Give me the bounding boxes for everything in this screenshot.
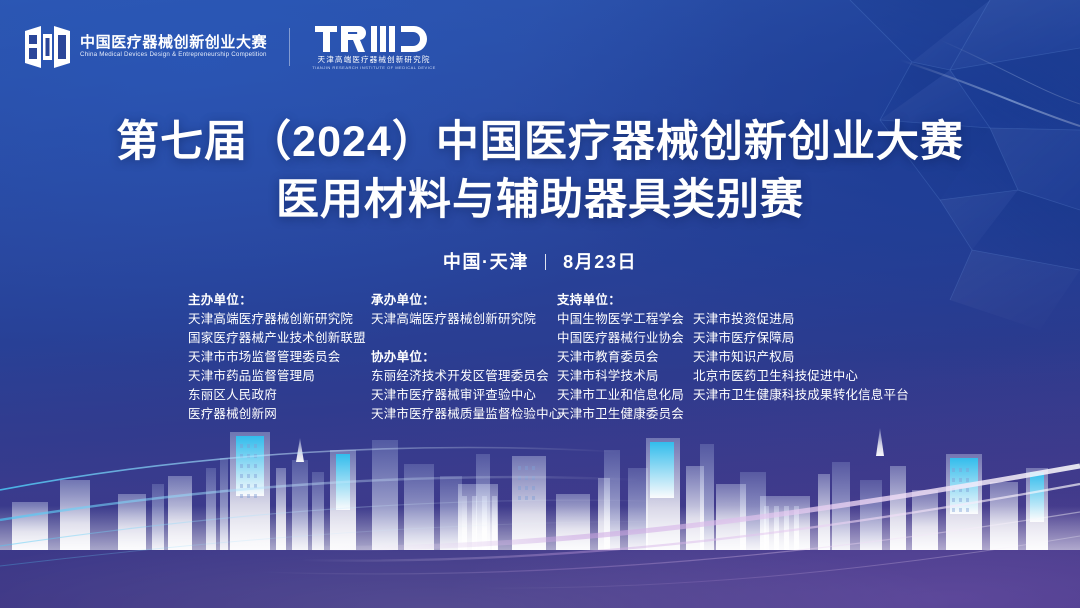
hosts-item: 天津市市场监督管理委员会	[188, 348, 371, 367]
supporter-item: 天津市科学技术局	[557, 367, 693, 386]
supporter-item: 天津市知识产权局	[693, 348, 898, 367]
logo-bar: 中国医疗器械创新创业大赛 China Medical Devices Desig…	[24, 24, 436, 70]
door-gateway-logo-icon	[24, 25, 71, 69]
supporter-item: 北京市医药卫生科技促进中心	[693, 367, 898, 386]
supporters-column-left: 支持单位： 中国生物医学工程学会 中国医疗器械行业协会 天津市教育委员会 天津市…	[557, 291, 693, 424]
event-poster: 中国医疗器械创新创业大赛 China Medical Devices Desig…	[0, 0, 1080, 608]
supporter-item: 中国医疗器械行业协会	[557, 329, 693, 348]
organizer-title: 承办单位：	[371, 291, 557, 310]
supporter-item: 天津市医疗保障局	[693, 329, 898, 348]
event-datebar: 中国·天津 8月23日	[0, 248, 1080, 274]
coorganizer-item: 天津市医疗器械质量监督检验中心	[371, 405, 557, 424]
hosts-column: 主办单位： 天津高端医疗器械创新研究院 国家医疗器械产业技术创新联盟 天津市市场…	[188, 291, 371, 424]
supporter-item: 天津市教育委员会	[557, 348, 693, 367]
institute-logo-cn: 天津高端医疗器械创新研究院	[318, 56, 431, 64]
organizer-item: 天津高端医疗器械创新研究院	[371, 310, 557, 329]
trmid-wordmark-icon	[315, 24, 433, 54]
supporter-item: 天津市卫生健康委员会	[557, 405, 693, 424]
logo-divider	[289, 28, 290, 66]
hosts-item: 国家医疗器械产业技术创新联盟	[188, 329, 371, 348]
institute-logo: 天津高端医疗器械创新研究院 TIANJIN RESEARCH INSTITUTE…	[312, 24, 436, 70]
poster-title-line1: 第七届（2024）中国医疗器械创新创业大赛	[0, 118, 1080, 168]
hosts-item: 东丽区人民政府	[188, 386, 371, 405]
coorganizer-item: 天津市医疗器械审评查验中心	[371, 386, 557, 405]
competition-logo-en: China Medical Devices Design & Entrepren…	[80, 52, 267, 59]
competition-logo: 中国医疗器械创新创业大赛 China Medical Devices Desig…	[24, 25, 267, 69]
datebar-separator	[545, 254, 546, 270]
supporters-column-right: 天津市投资促进局 天津市医疗保障局 天津市知识产权局 北京市医药卫生科技促进中心…	[693, 310, 898, 405]
supporter-item: 中国生物医学工程学会	[557, 310, 693, 329]
hosts-title: 主办单位：	[188, 291, 371, 310]
event-location: 中国·天津	[443, 252, 529, 272]
coorganizers-title: 协办单位：	[371, 348, 557, 367]
supporter-item: 天津市卫生健康科技成果转化信息平台	[693, 386, 898, 405]
supporters-title: 支持单位：	[557, 291, 693, 310]
organizers-block: 主办单位： 天津高端医疗器械创新研究院 国家医疗器械产业技术创新联盟 天津市市场…	[188, 291, 898, 424]
city-skyline-silhouette	[0, 410, 1080, 550]
coorganizer-item: 东丽经济技术开发区管理委员会	[371, 367, 557, 386]
supporter-item: 天津市工业和信息化局	[557, 386, 693, 405]
column-spacer	[371, 329, 557, 348]
organizer-column: 承办单位： 天津高端医疗器械创新研究院 协办单位： 东丽经济技术开发区管理委员会…	[371, 291, 557, 424]
hosts-item: 天津市药品监督管理局	[188, 367, 371, 386]
hosts-item: 天津高端医疗器械创新研究院	[188, 310, 371, 329]
institute-logo-en: TIANJIN RESEARCH INSTITUTE OF MEDICAL DE…	[312, 66, 436, 70]
event-date: 8月23日	[563, 252, 637, 272]
hosts-item: 医疗器械创新网	[188, 405, 371, 424]
poster-title-line2: 医用材料与辅助器具类别赛	[0, 176, 1080, 226]
competition-logo-cn: 中国医疗器械创新创业大赛	[80, 35, 267, 51]
headline-block: 第七届（2024）中国医疗器械创新创业大赛 医用材料与辅助器具类别赛 中国·天津…	[0, 118, 1080, 274]
supporter-item: 天津市投资促进局	[693, 310, 898, 329]
